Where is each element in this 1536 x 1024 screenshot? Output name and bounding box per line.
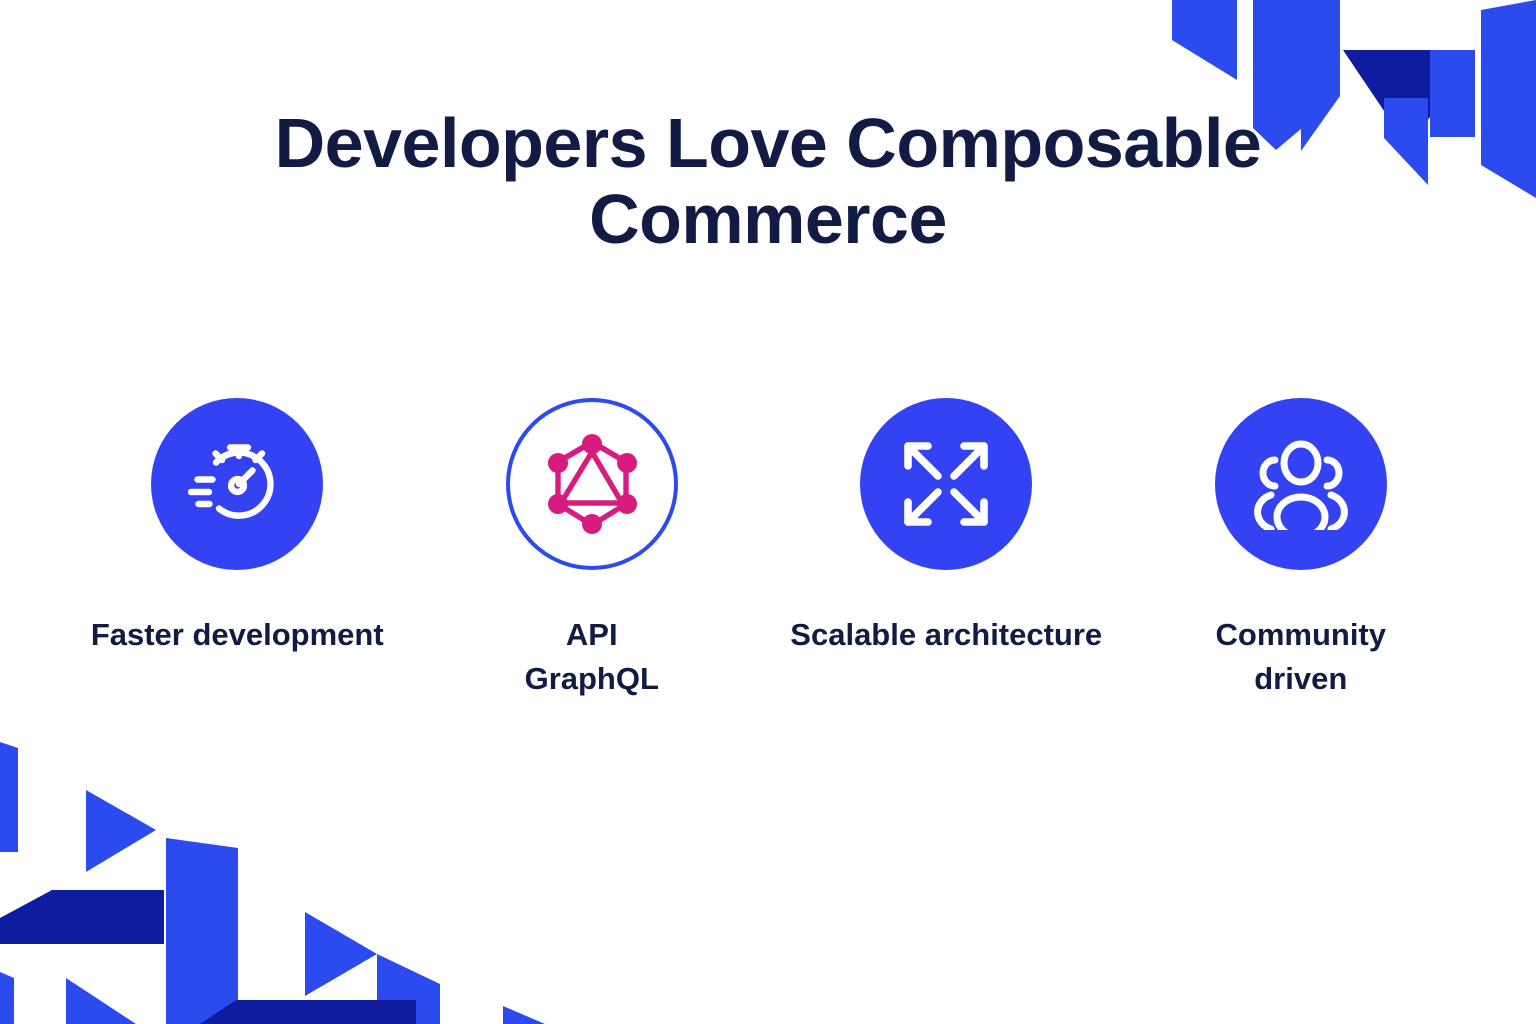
feature-item-faster-development[interactable]: Faster development — [60, 398, 415, 657]
people-group-icon — [1215, 398, 1387, 570]
feature-label-faster-development: Faster development — [91, 613, 384, 657]
page-title: Developers Love Composable Commerce — [208, 106, 1328, 257]
feature-item-api-graphql[interactable]: API GraphQL — [415, 398, 770, 701]
feature-row: Faster development — [60, 398, 1478, 701]
feature-item-scalable-architecture[interactable]: Scalable architecture — [769, 398, 1124, 657]
speed-stopwatch-icon — [151, 398, 323, 570]
heading-block: Developers Love Composable Commerce — [0, 106, 1536, 257]
feature-item-community-driven[interactable]: Community driven — [1124, 398, 1479, 701]
feature-label-community-driven: Community driven — [1216, 613, 1387, 701]
slide-canvas: Developers Love Composable Commerce — [0, 0, 1536, 1024]
feature-label-api-graphql: API GraphQL — [525, 613, 659, 701]
expand-arrows-icon — [860, 398, 1032, 570]
feature-label-scalable-architecture: Scalable architecture — [790, 613, 1102, 657]
graphql-icon — [506, 398, 678, 570]
